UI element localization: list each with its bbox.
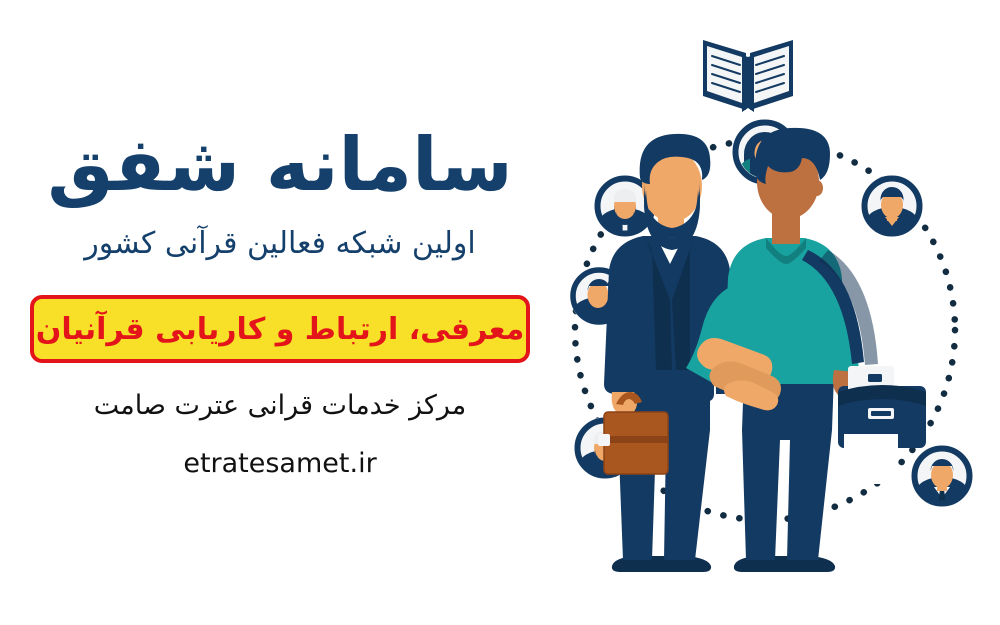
organization-name: مرکز خدمات قرانی عترت صامت: [0, 390, 560, 421]
open-book-icon: [703, 40, 793, 112]
illustration-svg: [560, 0, 1000, 625]
left-arm: [608, 282, 634, 406]
illustration: [560, 0, 1000, 625]
page-title: سامانه شفق: [0, 128, 560, 203]
website-url: etratesamet.ir: [0, 448, 560, 479]
avatar-young-man: [861, 175, 923, 237]
highlight-banner: معرفی، ارتباط و کاریابی قرآنیان: [30, 295, 530, 363]
highlight-banner-label: معرفی، ارتباط و کاریابی قرآنیان: [36, 312, 525, 347]
text-column: سامانه شفق اولین شبکه فعالین قرآنی کشور …: [0, 0, 560, 625]
poster-canvas: سامانه شفق اولین شبکه فعالین قرآنی کشور …: [0, 0, 1000, 625]
ear: [811, 180, 823, 196]
avatar-man-suit-tie: [911, 445, 973, 507]
brand-subtitle: اولین شبکه فعالین قرآنی کشور: [0, 226, 560, 262]
